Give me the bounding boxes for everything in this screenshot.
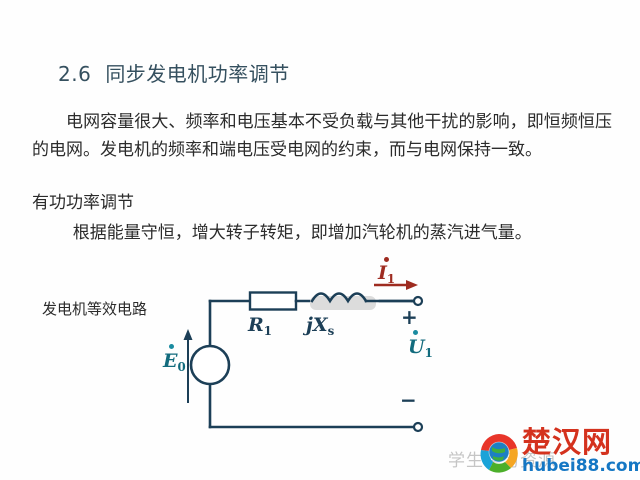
- terminal-top-node: [414, 297, 422, 305]
- inductor-shade: [310, 296, 376, 310]
- subheading: 有功功率调节: [32, 190, 134, 216]
- title-number: 2.6: [58, 62, 91, 86]
- label-voltage-U1: U1: [408, 338, 433, 357]
- resistor-R1-symbol: [250, 293, 296, 310]
- title-text: 同步发电机功率调节: [105, 62, 290, 86]
- label-inductor-jXs: jXs: [306, 316, 334, 335]
- terminal-minus-sign: −: [400, 390, 417, 410]
- label-current-I1: I1: [378, 264, 395, 283]
- phasor-dot-icon: [169, 344, 174, 349]
- terminal-plus-sign: +: [401, 307, 418, 327]
- paragraph-1: 电网容量很大、频率和电压基本不受负载与其他干扰的影响，即恒频恒压的电网。发电机的…: [32, 108, 612, 164]
- circuit-caption: 发电机等效电路: [42, 298, 147, 319]
- phasor-dot-icon: [413, 330, 418, 335]
- label-resistor-R1: R1: [248, 316, 272, 335]
- label-source-E0: E0: [163, 352, 186, 371]
- paragraph-2: 根据能量守恒，增大转子转矩，即增加汽轮机的蒸汽进气量。: [32, 218, 612, 248]
- slide-canvas: 2.6同步发电机功率调节 电网容量很大、频率和电压基本不受负载与其他干扰的影响，…: [0, 0, 640, 480]
- paragraph-1-block: 电网容量很大、频率和电压基本不受负载与其他干扰的影响，即恒频恒压的电网。发电机的…: [32, 108, 612, 164]
- site-watermark-logo: 楚汉网 hubei88.com: [478, 428, 638, 478]
- page-title: 2.6同步发电机功率调节: [58, 58, 290, 87]
- watermark-brand-name: 楚汉网: [522, 428, 612, 457]
- terminal-bottom-node: [414, 423, 422, 431]
- globe-logo-icon: [478, 432, 520, 474]
- watermark-url: hubei88.com: [522, 458, 640, 475]
